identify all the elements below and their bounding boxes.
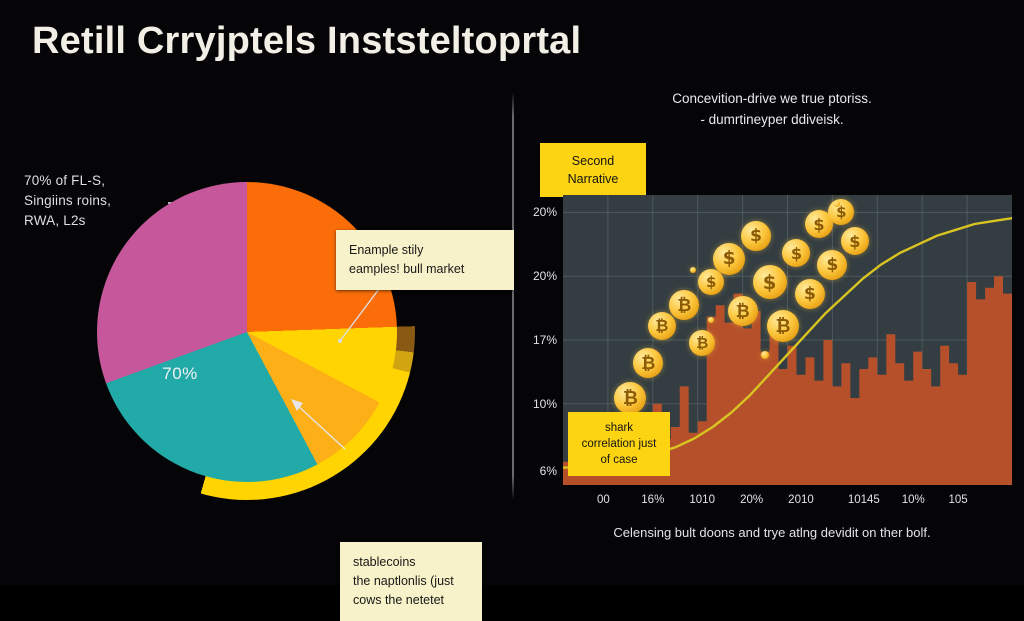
badge-second-narrative[interactable]: Second Narrative xyxy=(540,143,646,197)
x-axis-tick-label: 2010 xyxy=(788,494,814,506)
x-axis-tick-label: 10% xyxy=(902,494,925,506)
coin-marker-dollar-icon[interactable]: $ xyxy=(741,221,771,251)
x-axis-tick-label: 10145 xyxy=(848,494,880,506)
coin-speck-icon xyxy=(761,351,769,359)
chart-caption-line-1: Concevition-drive we true ptoriss. xyxy=(572,88,972,109)
badge-second-narrative-line-2: Narrative xyxy=(544,170,642,188)
callout-top-line-1: Enample stily xyxy=(349,241,501,260)
chart-x-axis: 0016%101020%20101014510%105 xyxy=(563,492,1012,512)
chart-bottom-caption: Celensing bult doons and trye atlng devi… xyxy=(532,525,1012,540)
y-axis-tick-label: 10% xyxy=(513,397,557,411)
callout-stablecoins[interactable]: stablecoins the naptlonlis (just cows th… xyxy=(340,542,482,621)
coin-marker-bitcoin-icon[interactable]: ₿ xyxy=(728,296,758,326)
badge-shark-line-1: shark xyxy=(571,420,667,436)
callout-bottom-line-1: stablecoins xyxy=(353,553,469,572)
callout-bull-market[interactable]: Enample stily eamples! bull market xyxy=(336,230,514,290)
left-panel-pie-section: 70% of FL-S, Singiins roins, RWA, L2s 70… xyxy=(0,90,512,560)
pie-chart[interactable]: 70% xyxy=(97,182,397,482)
x-axis-tick-label: 16% xyxy=(641,494,664,506)
coin-marker-bitcoin-icon[interactable]: ₿ xyxy=(767,310,799,342)
x-axis-tick-label: 105 xyxy=(949,494,968,506)
badge-shark-line-3: of case xyxy=(571,452,667,468)
pie-slices-group xyxy=(97,182,397,482)
y-axis-tick-label: 6% xyxy=(513,464,557,478)
badge-shark-line-2: correlation just xyxy=(571,436,667,452)
coin-marker-dollar-icon[interactable]: $ xyxy=(713,243,745,275)
right-panel-chart-section: Concevition-drive we true ptoriss. - dum… xyxy=(512,0,1024,585)
callout-bottom-line-3: cows the netetet xyxy=(353,591,469,610)
callout-top-line-2: eamples! bull market xyxy=(349,260,501,279)
coin-speck-icon xyxy=(708,317,714,323)
chart-caption-line-2: - dumrtineyper ddiveisk. xyxy=(572,109,972,130)
coin-marker-dollar-icon[interactable]: $ xyxy=(795,279,825,309)
coin-speck-icon xyxy=(834,201,840,207)
x-axis-tick-label: 00 xyxy=(597,494,610,506)
coin-marker-bitcoin-icon[interactable]: ₿ xyxy=(648,312,676,340)
y-axis-tick-label: 20% xyxy=(513,269,557,283)
x-axis-tick-label: 20% xyxy=(740,494,763,506)
coin-marker-dollar-icon[interactable]: $ xyxy=(817,250,847,280)
y-axis-tick-label: 17% xyxy=(513,333,557,347)
coin-marker-dollar-icon[interactable]: $ xyxy=(753,265,787,299)
badge-second-narrative-line-1: Second xyxy=(544,152,642,170)
x-axis-tick-label: 1010 xyxy=(689,494,715,506)
y-axis-tick-label: 20% xyxy=(513,205,557,219)
chart-header-caption: Concevition-drive we true ptoriss. - dum… xyxy=(572,88,972,130)
callout-bottom-line-2: the naptlonlis (just xyxy=(353,572,469,591)
badge-shark-correlation[interactable]: shark correlation just of case xyxy=(568,412,670,476)
chart-y-axis: 20%20%17%10%6% xyxy=(512,195,557,485)
pie-center-label: 70% xyxy=(145,364,215,384)
coin-marker-bitcoin-icon[interactable]: ₿ xyxy=(689,330,715,356)
